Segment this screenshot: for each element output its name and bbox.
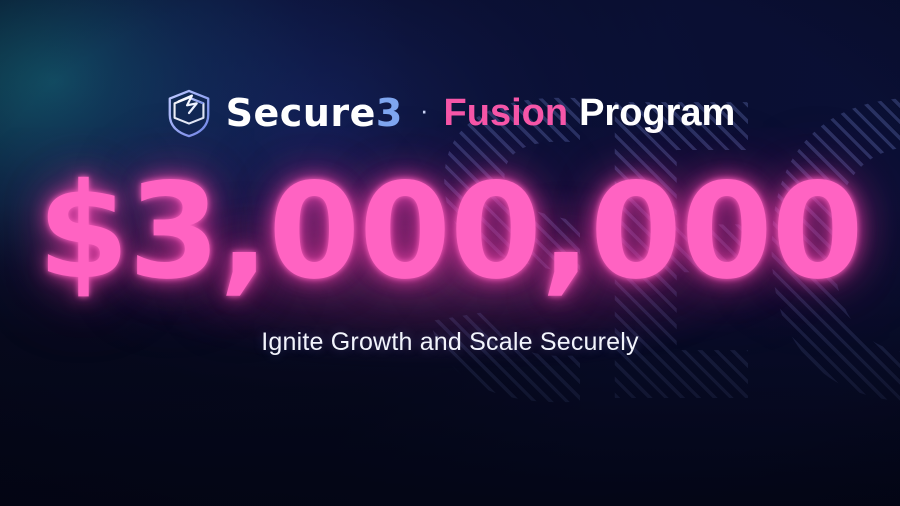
- program-title-program: Program: [579, 94, 735, 132]
- brand-name: Secure3: [226, 94, 403, 132]
- secure3-shield-cube-logo-icon: [165, 88, 213, 138]
- headline-amount: $3,000,000: [37, 166, 862, 298]
- banner-content: Secure3 · Fusion Program $3,000,000 Igni…: [0, 0, 900, 506]
- brand-header-row: Secure3 · Fusion Program: [165, 88, 736, 138]
- brand-separator-dot: ·: [420, 97, 429, 123]
- brand-name-three: 3: [376, 91, 403, 135]
- brand-name-text: Secure: [226, 91, 376, 135]
- fusion-program-banner: S E C: [0, 0, 900, 506]
- banner-subtitle: Ignite Growth and Scale Securely: [261, 328, 638, 357]
- program-title-fusion: Fusion: [444, 94, 569, 132]
